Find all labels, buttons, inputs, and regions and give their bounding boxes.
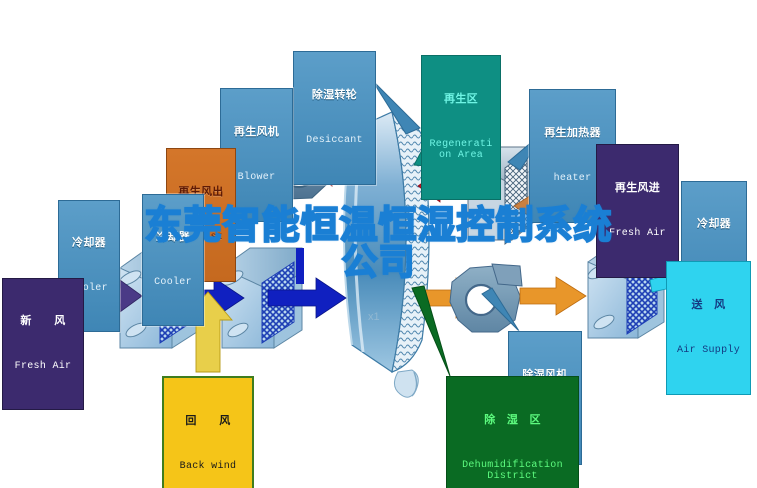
label-regeneration-fresh-air-in[interactable]: 再生风进 Fresh Air — [596, 144, 679, 278]
label-cn: 再生风进 — [599, 183, 676, 195]
diagram-canvas: x1 — [0, 0, 757, 488]
label-en: Back wind — [166, 462, 250, 473]
label-en: Air Supply — [669, 346, 748, 357]
label-cn: 除湿转轮 — [296, 90, 373, 102]
label-cn: 回 风 — [166, 416, 250, 428]
label-cn: 送 风 — [669, 300, 748, 312]
label-en: Fresh Air — [599, 229, 676, 240]
label-cn: 冷却器 — [61, 238, 117, 250]
label-cn: 再生加热器 — [532, 128, 613, 140]
label-cn: 再生风机 — [223, 127, 290, 139]
label-en: Fresh Air — [5, 362, 81, 373]
label-fresh-air-in[interactable]: 新 风 Fresh Air — [2, 278, 84, 410]
label-cn: 除 湿 区 — [449, 415, 576, 427]
label-cn: 新 风 — [5, 316, 81, 328]
label-cn: 再生区 — [424, 94, 498, 106]
label-cn: 冷却器 — [145, 232, 201, 244]
label-regeneration-area[interactable]: 再生区 Regenerati on Area — [421, 55, 501, 200]
svg-text:x1: x1 — [368, 311, 380, 323]
label-air-supply[interactable]: 送 风 Air Supply — [666, 261, 751, 395]
label-en: Dehumidification District — [449, 461, 576, 483]
label-en: Regenerati on Area — [424, 140, 498, 162]
label-desiccant-wheel[interactable]: 除湿转轮 Desiccant — [293, 51, 376, 185]
blower-out-arrow — [520, 277, 586, 315]
label-dehumidification-district[interactable]: 除 湿 区 Dehumidification District — [446, 376, 579, 488]
label-en: Cooler — [145, 278, 201, 289]
label-back-wind[interactable]: 回 风 Back wind — [162, 376, 254, 488]
label-en: Desiccant — [296, 136, 373, 147]
label-cooler-left-near[interactable]: 冷却器 Cooler — [142, 194, 204, 326]
label-cn: 冷却器 — [684, 219, 744, 231]
